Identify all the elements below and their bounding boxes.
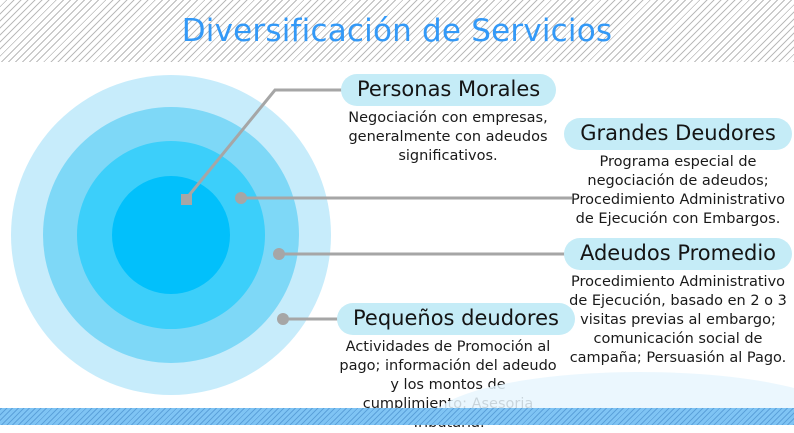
callout-body-grandes-deudores: Programa especial de negociación de adeu… [562,153,794,229]
callout-title-grandes-deudores: Grandes Deudores [564,118,792,150]
callout-title-adeudos-promedio: Adeudos Promedio [564,238,792,270]
callout-grandes-deudores[interactable]: Grandes Deudores Programa especial de ne… [562,118,794,229]
callout-adeudos-promedio[interactable]: Adeudos Promedio Procedimiento Administr… [562,238,794,368]
callout-title-personas-morales: Personas Morales [341,74,556,106]
callout-body-adeudos-promedio: Procedimiento Administrativo de Ejecució… [562,273,794,368]
callout-body-personas-morales: Negociación con empresas, generalmente c… [341,109,555,166]
footer-band [0,408,794,425]
callout-personas-morales[interactable]: Personas Morales Negociación con empresa… [341,74,555,166]
callout-title-pequenos-deudores: Pequeños deudores [337,303,575,335]
ring-core [112,176,230,294]
header-band: Diversificación de Servicios [0,0,794,62]
page-title: Diversificación de Servicios [0,0,794,62]
